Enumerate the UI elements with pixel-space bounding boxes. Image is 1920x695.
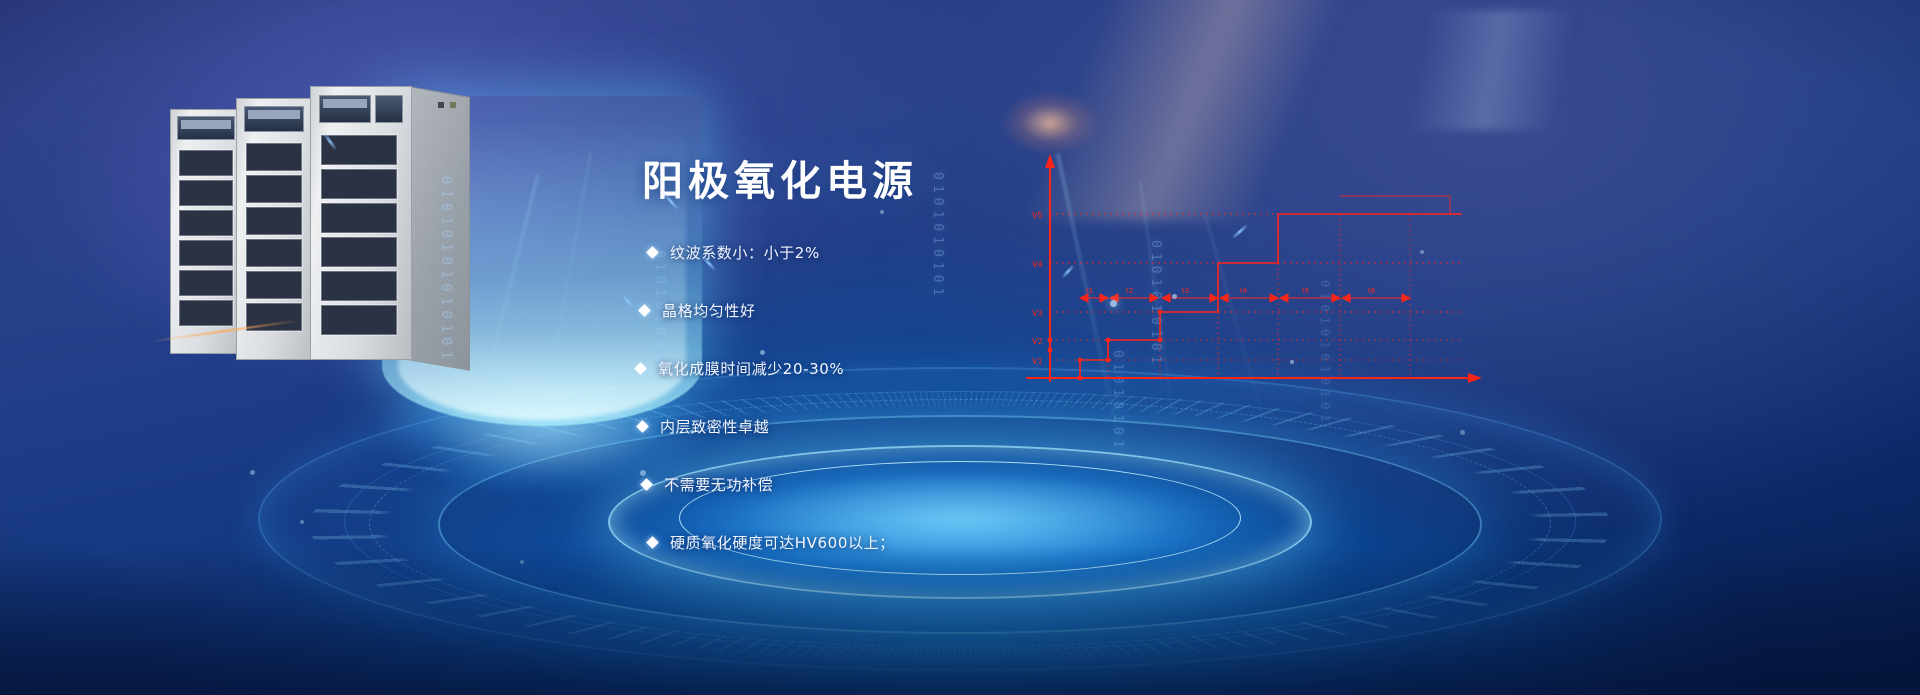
- vignette-overlay: [0, 0, 1920, 695]
- banner-stage: 01010101010101 0101010101 010101010 0101…: [0, 0, 1920, 695]
